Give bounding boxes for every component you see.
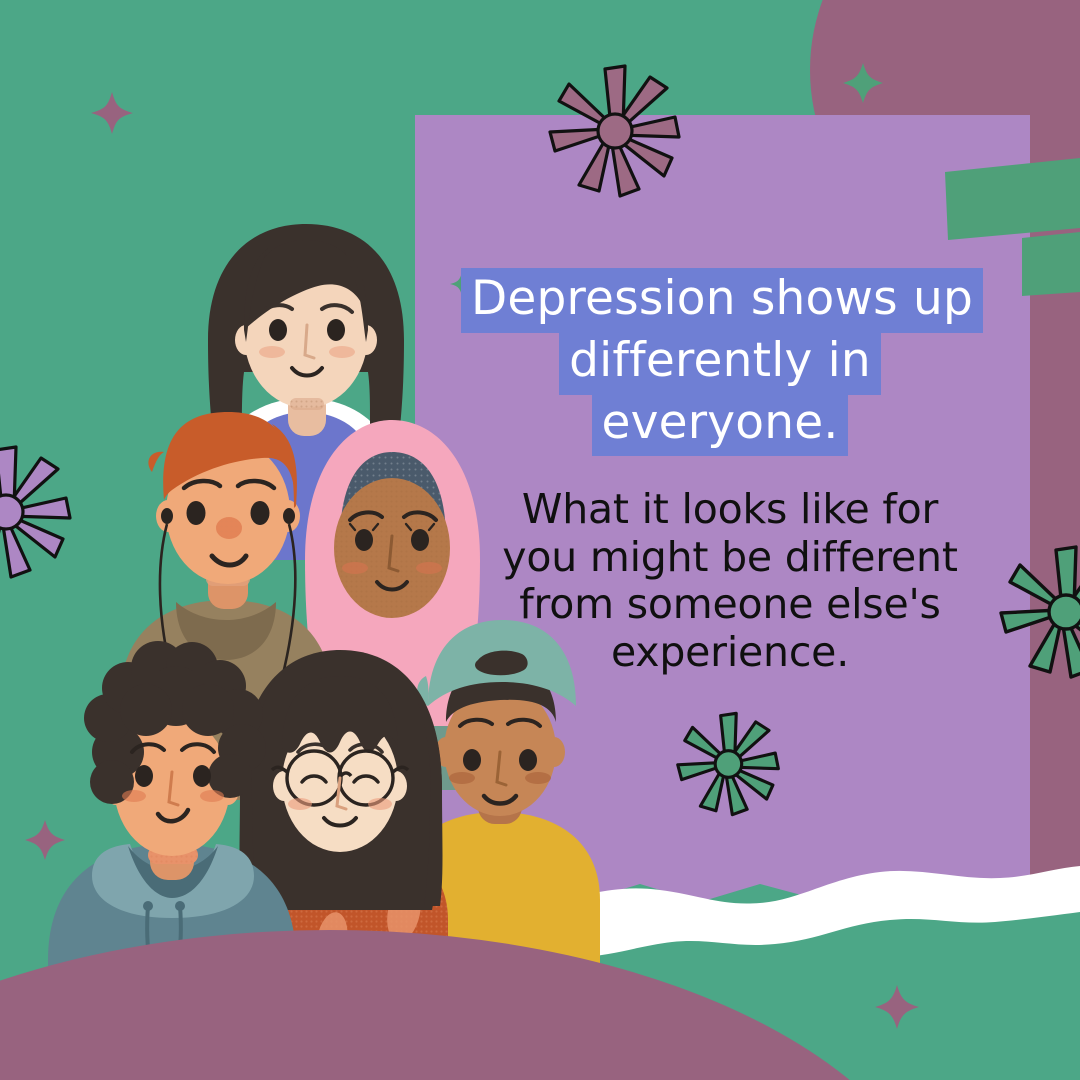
green-bar-top-right bbox=[945, 158, 1080, 240]
poster-canvas: Depression shows up differently in every… bbox=[0, 0, 1080, 1080]
green-bar-right bbox=[1022, 232, 1080, 296]
poster-artwork bbox=[0, 0, 1080, 1080]
